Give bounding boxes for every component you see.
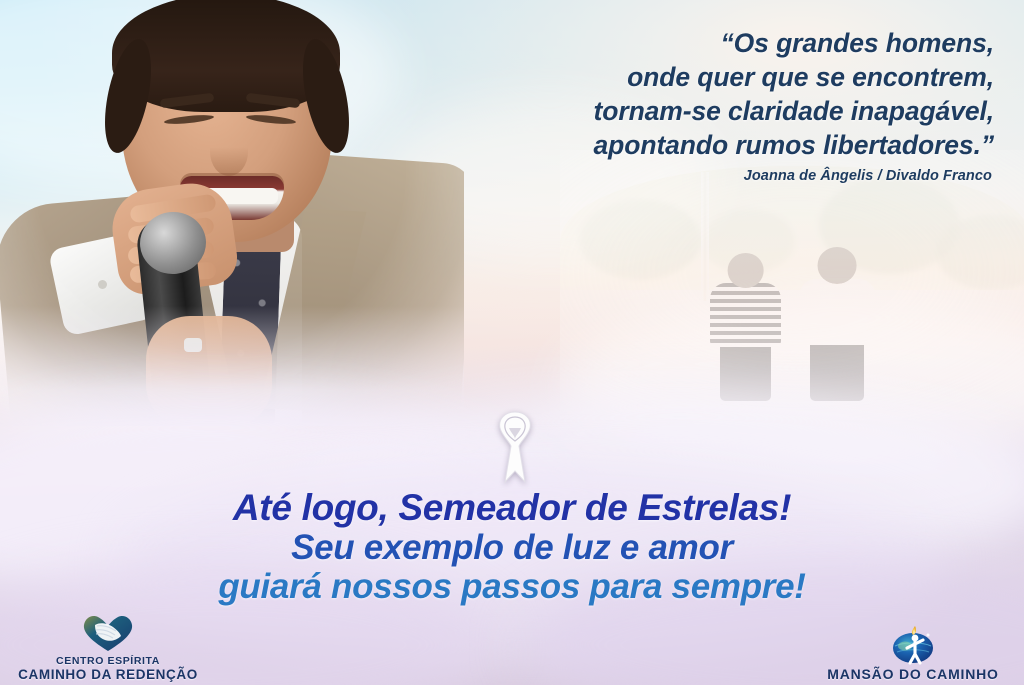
quote-attribution: Joanna de Ângelis / Divaldo Franco — [572, 168, 992, 184]
logo-name: MANSÃO DO CAMINHO — [808, 668, 1018, 681]
microphone-head-icon — [137, 209, 209, 278]
cloud-shape — [0, 250, 350, 450]
portrait-suit-left — [0, 192, 202, 444]
quote-line-2: onde quer que se encontrem, — [434, 60, 994, 94]
portrait-shirt — [190, 216, 302, 428]
quote-text: “Os grandes homens, onde quer que se enc… — [434, 26, 994, 162]
portrait-cuff-button — [98, 280, 107, 289]
background-photo-foliage — [701, 209, 795, 274]
portrait-tie — [219, 231, 282, 429]
quote-line-4: apontando rumos libertadores.” — [434, 128, 994, 162]
portrait-hair — [294, 35, 357, 157]
portrait-finger — [127, 217, 214, 244]
headline-line-3: guiará nossos passos para sempre! — [0, 567, 1024, 607]
portrait-lapel — [259, 209, 366, 412]
portrait-neck — [208, 192, 294, 252]
heart-hands-icon — [81, 613, 135, 653]
background-photo-foliage — [579, 199, 701, 280]
portrait-smile — [180, 176, 284, 220]
background-photo — [560, 150, 1024, 420]
globe-figure-torch-icon — [887, 622, 939, 666]
portrait-suit-right — [252, 151, 477, 445]
background-photo-wall — [560, 301, 1024, 328]
person-legs — [720, 343, 771, 401]
portrait-ring — [184, 338, 202, 352]
mourning-ribbon-icon — [487, 408, 543, 484]
cloud-shape — [0, 0, 400, 190]
portrait-eye — [246, 113, 296, 125]
headline-line-1: Até logo, Semeador de Estrelas! — [0, 488, 1024, 528]
portrait-photo — [0, 0, 464, 426]
logo-centro-espirita[interactable]: CENTRO ESPÍRITA CAMINHO DA REDENÇÃO — [8, 613, 208, 681]
microphone-icon — [135, 215, 211, 398]
person-torso — [800, 279, 874, 346]
person-head — [818, 247, 857, 283]
memorial-poster: “Os grandes homens, onde quer que se enc… — [0, 0, 1024, 685]
portrait-shirt-cuff — [48, 231, 156, 336]
quote-line-1: “Os grandes homens, — [434, 26, 994, 60]
logo-mansao-do-caminho-text: MANSÃO DO CAMINHO — [808, 668, 1018, 681]
portrait-finger — [127, 240, 214, 264]
background-photo-sky — [560, 150, 1024, 420]
portrait-fade-mask — [0, 306, 464, 426]
portrait-eyebrow — [246, 93, 301, 109]
portrait-nose — [210, 128, 248, 176]
background-photo-foliage — [936, 215, 1024, 291]
portrait-hand — [107, 178, 240, 298]
portrait-face — [122, 4, 332, 242]
portrait-hand-lower — [146, 316, 272, 428]
background-photo-pole — [701, 172, 709, 334]
portrait-teeth — [186, 188, 278, 204]
person-legs — [810, 341, 864, 401]
quote-line-3: tornam-se claridade inapagável, — [434, 94, 994, 128]
portrait-hair — [112, 0, 340, 112]
portrait-eye — [164, 113, 214, 125]
person-head — [727, 253, 764, 288]
background-photo-hill — [560, 166, 1024, 290]
portrait-hair — [96, 35, 159, 157]
headline-message: Até logo, Semeador de Estrelas! Seu exem… — [0, 488, 1024, 607]
background-photo-ground — [560, 323, 1024, 420]
logo-centro-espirita-text: CENTRO ESPÍRITA CAMINHO DA REDENÇÃO — [8, 655, 208, 681]
portrait-eyebrow — [160, 93, 215, 109]
background-photo-person — [795, 247, 880, 398]
cloud-shape — [560, 300, 1024, 470]
person-torso — [710, 283, 780, 347]
headline-line-2: Seu exemplo de luz e amor — [0, 528, 1024, 567]
portrait-finger — [130, 262, 217, 283]
portrait-finger — [129, 193, 217, 223]
logo-mansao-do-caminho[interactable]: MANSÃO DO CAMINHO — [808, 622, 1018, 681]
logo-line-2: CAMINHO DA REDENÇÃO — [8, 668, 208, 681]
background-photo-foliage — [819, 177, 960, 274]
background-photo-person — [706, 253, 786, 399]
portrait-lapel — [131, 220, 238, 413]
